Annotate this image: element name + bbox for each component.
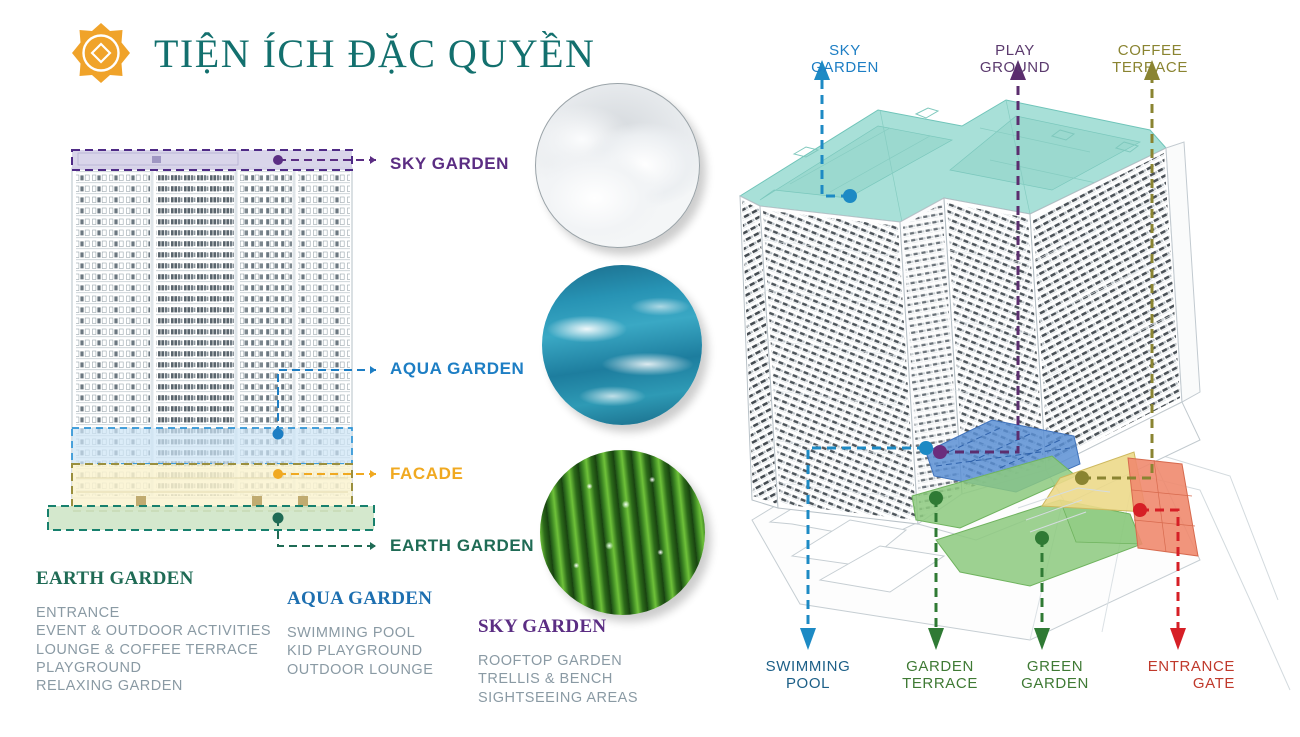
title-block: TIỆN ÍCH ĐẶC QUYỀN xyxy=(70,22,595,84)
list-item: EVENT & OUTDOOR ACTIVITIES xyxy=(36,622,271,640)
list-item: SWIMMING POOL xyxy=(287,624,433,642)
list-item: ENTRANCE xyxy=(36,604,271,622)
infographic-canvas: TIỆN ÍCH ĐẶC QUYỀN xyxy=(0,0,1300,732)
page-title: TIỆN ÍCH ĐẶC QUYỀN xyxy=(154,30,595,77)
callout-line-2: TERRACE xyxy=(885,675,995,692)
callout-line-1: SKY xyxy=(790,42,900,59)
legend-title: EARTH GARDEN xyxy=(36,568,271,590)
list-item: SIGHTSEEING AREAS xyxy=(478,689,638,707)
elevation-zone-facade xyxy=(72,464,352,511)
list-item: ROOFTOP GARDEN xyxy=(478,652,638,670)
list-item: RELAXING GARDEN xyxy=(36,677,271,695)
sky-photo-circle xyxy=(535,83,700,248)
elevation-zone-aqua xyxy=(72,428,352,464)
elevation-label-earth-garden: EARTH GARDEN xyxy=(390,536,534,556)
legend-title: AQUA GARDEN xyxy=(287,588,433,610)
legend-earth-garden: EARTH GARDEN ENTRANCE EVENT & OUTDOOR AC… xyxy=(36,568,271,695)
callout-line-2: POOL xyxy=(748,675,868,692)
legend-item-list: ROOFTOP GARDEN TRELLIS & BENCH SIGHTSEEI… xyxy=(478,652,638,707)
callout-line-1: GARDEN xyxy=(885,658,995,675)
elevation-label-facade: FACADE xyxy=(390,464,464,484)
list-item: TRELLIS & BENCH xyxy=(478,670,638,688)
aqua-photo-circle xyxy=(542,265,702,425)
callout-line-1: COFFEE xyxy=(1090,42,1210,59)
callout-line-2: GARDEN xyxy=(1000,675,1110,692)
legend-aqua-garden: AQUA GARDEN SWIMMING POOL KID PLAYGROUND… xyxy=(287,588,433,679)
earth-photo-circle xyxy=(540,450,705,615)
callout-line-1: SWIMMING xyxy=(748,658,868,675)
axonometric-site-diagram xyxy=(730,0,1300,732)
callout-line-2: GROUND xyxy=(955,59,1075,76)
callout-line-2: GATE xyxy=(1125,675,1235,692)
elevation-zone-earth xyxy=(48,506,374,530)
callout-play-ground: PLAY GROUND xyxy=(955,42,1075,77)
callout-line-2: GARDEN xyxy=(790,59,900,76)
legend-sky-garden: SKY GARDEN ROOFTOP GARDEN TRELLIS & BENC… xyxy=(478,616,638,707)
callout-line-1: GREEN xyxy=(1000,658,1110,675)
callout-green-garden: GREEN GARDEN xyxy=(1000,658,1110,693)
callout-garden-terrace: GARDEN TERRACE xyxy=(885,658,995,693)
building-elevation-diagram xyxy=(40,140,560,560)
callout-entrance-gate: ENTRANCE GATE xyxy=(1125,658,1235,693)
legend-item-list: ENTRANCE EVENT & OUTDOOR ACTIVITIES LOUN… xyxy=(36,604,271,695)
list-item: KID PLAYGROUND xyxy=(287,642,433,660)
callout-coffee-terrace: COFFEE TERRACE xyxy=(1090,42,1210,77)
list-item: LOUNGE & COFFEE TERRACE xyxy=(36,641,271,659)
legend-title: SKY GARDEN xyxy=(478,616,638,638)
octagram-mandala-icon xyxy=(70,22,132,84)
callout-line-1: PLAY xyxy=(955,42,1075,59)
list-item: PLAYGROUND xyxy=(36,659,271,677)
callout-swimming-pool: SWIMMING POOL xyxy=(748,658,868,693)
list-item: OUTDOOR LOUNGE xyxy=(287,661,433,679)
legend-item-list: SWIMMING POOL KID PLAYGROUND OUTDOOR LOU… xyxy=(287,624,433,679)
callout-sky-garden: SKY GARDEN xyxy=(790,42,900,77)
elevation-label-sky-garden: SKY GARDEN xyxy=(390,154,509,174)
callout-line-1: ENTRANCE xyxy=(1125,658,1235,675)
callout-line-2: TERRACE xyxy=(1090,59,1210,76)
elevation-label-aqua-garden: AQUA GARDEN xyxy=(390,359,524,379)
